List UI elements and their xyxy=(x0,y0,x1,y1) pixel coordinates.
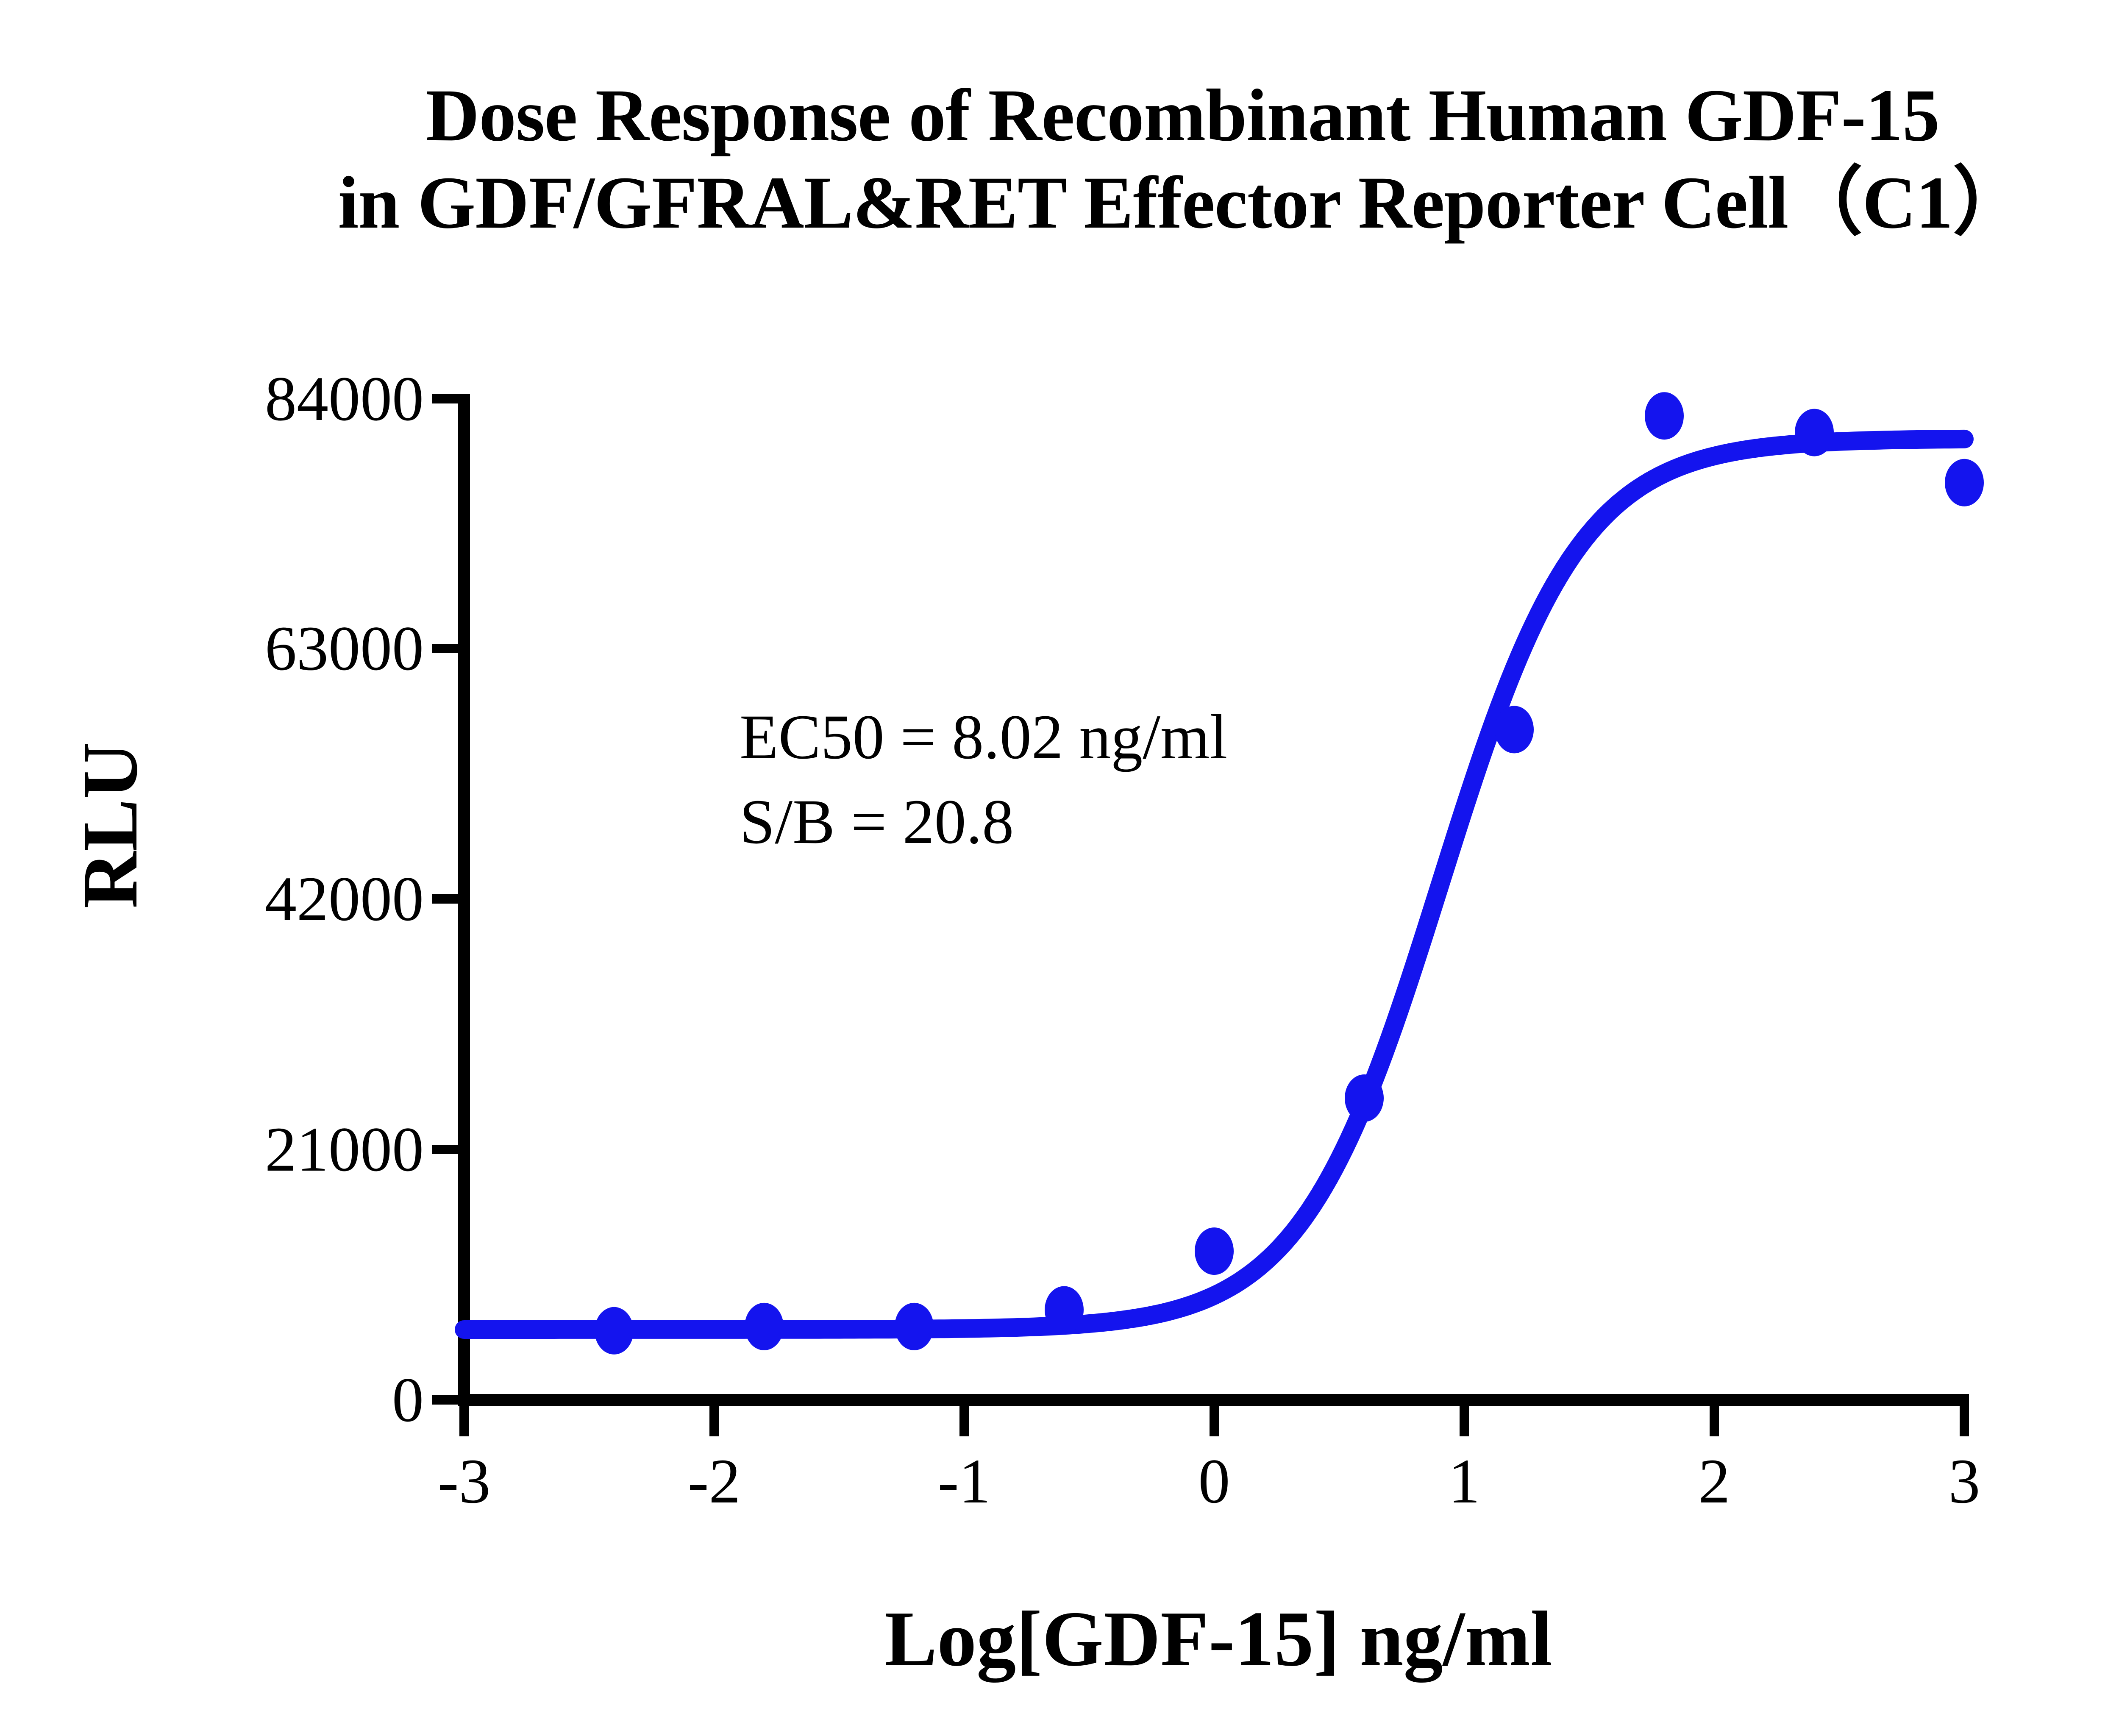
x-axis-title: Log[GDF-15] ng/ml xyxy=(464,1594,1973,1684)
chart-figure: Dose Response of Recombinant Human GDF-1… xyxy=(0,0,2119,1736)
y-tick-63000 xyxy=(432,644,458,653)
y-axis-title: RLU xyxy=(65,677,156,974)
plot-area: 0 21000 42000 63000 84000 -3 -2 -1 0 1 2… xyxy=(0,0,2119,1736)
data-point xyxy=(745,1303,784,1350)
x-tick-label-1: 1 xyxy=(1401,1449,1528,1513)
x-tick-neg3 xyxy=(459,1406,469,1436)
x-tick-1 xyxy=(1460,1406,1469,1436)
data-point-group xyxy=(595,392,1984,1355)
x-tick-label-2: 2 xyxy=(1651,1449,1778,1513)
data-point xyxy=(1495,706,1534,753)
x-tick-neg1 xyxy=(959,1406,969,1436)
y-tick-label-84000: 84000 xyxy=(144,367,424,431)
y-axis-spine xyxy=(458,394,470,1406)
y-tick-21000 xyxy=(432,1145,458,1154)
sb-annotation: S/B = 20.8 xyxy=(740,780,1227,865)
ec50-annotation: EC50 = 8.02 ng/ml xyxy=(740,695,1227,780)
fit-curve xyxy=(464,439,1964,1330)
x-tick-0 xyxy=(1210,1406,1219,1436)
y-tick-0 xyxy=(432,1395,458,1405)
y-tick-42000 xyxy=(432,894,458,904)
data-point xyxy=(1345,1074,1384,1122)
y-tick-84000 xyxy=(432,394,458,403)
data-point xyxy=(895,1303,934,1350)
x-tick-label-neg1: -1 xyxy=(901,1449,1028,1513)
y-tick-label-42000: 42000 xyxy=(144,867,424,931)
data-point xyxy=(1045,1286,1084,1334)
data-point xyxy=(1795,409,1834,456)
data-point xyxy=(595,1307,634,1355)
y-tick-label-0: 0 xyxy=(144,1368,424,1432)
data-point xyxy=(1645,392,1684,440)
x-tick-label-3: 3 xyxy=(1901,1449,2028,1513)
x-tick-2 xyxy=(1710,1406,1719,1436)
data-point xyxy=(1195,1227,1234,1275)
data-point xyxy=(1945,459,1984,506)
x-tick-neg2 xyxy=(709,1406,719,1436)
y-tick-label-21000: 21000 xyxy=(144,1118,424,1181)
fit-annotation: EC50 = 8.02 ng/ml S/B = 20.8 xyxy=(740,695,1227,864)
x-tick-label-neg2: -2 xyxy=(651,1449,778,1513)
x-tick-3 xyxy=(1960,1406,1969,1436)
x-tick-label-0: 0 xyxy=(1151,1449,1278,1513)
y-tick-label-63000: 63000 xyxy=(144,617,424,680)
x-tick-label-neg3: -3 xyxy=(400,1449,528,1513)
x-axis-spine xyxy=(458,1394,1969,1406)
